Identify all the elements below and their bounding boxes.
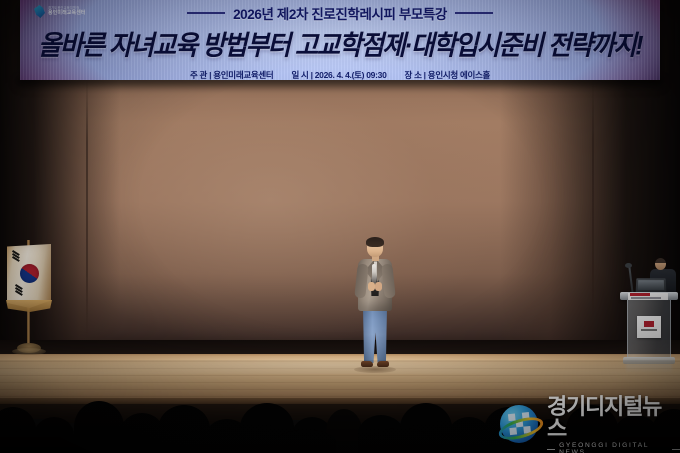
flag-fringe bbox=[6, 300, 52, 312]
banner-rule-right bbox=[455, 12, 493, 14]
lecture-hall-photo: 경기도용인교육지원청 용인미래교육센터 2026년 제2차 진로진학레시피 부모… bbox=[0, 0, 680, 453]
podium-laptop-icon bbox=[636, 278, 667, 293]
speaker-hair bbox=[366, 237, 384, 247]
watermark-english-name: GYEONGGI DIGITAL NEWS bbox=[559, 443, 668, 453]
banner-subtitle-row: 2026년 제2차 진로진학레시피 부모특강 bbox=[187, 3, 493, 23]
podium-sign-text-bar bbox=[631, 297, 661, 299]
speaker-jeans-shading bbox=[362, 308, 388, 363]
banner-title: 올바른 자녀교육 방법부터 고교학점제·대학입시준비 전략까지! bbox=[38, 24, 642, 63]
watermark-text: 경기디지털뉴스 GYEONGGI DIGITAL NEWS bbox=[547, 396, 680, 453]
banner-content: 2026년 제2차 진로진학레시피 부모특강 올바른 자녀교육 방법부터 고교학… bbox=[20, 0, 660, 80]
wall-seam-left bbox=[86, 78, 88, 340]
banner-rule-left bbox=[187, 12, 225, 14]
speaker-hand-right bbox=[375, 282, 382, 291]
speaker-figure bbox=[352, 238, 398, 378]
banner-meta-row: 주 관 | 용인미래교육센터 일 시 | 2026. 4. 4.(토) 09:3… bbox=[190, 69, 490, 80]
banner-host: 주 관 | 용인미래교육센터 bbox=[190, 69, 273, 80]
podium-operator-head bbox=[655, 258, 666, 270]
globe-icon bbox=[498, 403, 540, 449]
event-banner: 경기도용인교육지원청 용인미래교육센터 2026년 제2차 진로진학레시피 부모… bbox=[20, 0, 660, 80]
wall-seam-right bbox=[592, 78, 594, 340]
watermark-dash-left bbox=[547, 449, 555, 450]
watermark-korean-name: 경기디지털뉴스 bbox=[547, 396, 680, 440]
speaker-arm-right bbox=[381, 264, 395, 299]
podium-microphone-head-icon bbox=[625, 263, 632, 268]
banner-venue: 장 소 | 용인시청 에이스홀 bbox=[405, 69, 491, 80]
banner-drop-shadow bbox=[16, 78, 664, 92]
microphone-icon bbox=[372, 264, 376, 284]
speaker-hand-left bbox=[368, 282, 375, 291]
audience-head-front bbox=[372, 428, 430, 453]
news-watermark: 경기디지털뉴스 GYEONGGI DIGITAL NEWS bbox=[498, 396, 680, 453]
podium-microphone-stem-icon bbox=[628, 266, 633, 294]
podium-top-sign bbox=[628, 293, 668, 300]
audience-head-front bbox=[92, 429, 152, 453]
korean-flag bbox=[2, 240, 54, 380]
podium-plaque-emblem bbox=[644, 321, 654, 327]
audience-head-front bbox=[10, 427, 66, 453]
audience-head-front bbox=[186, 427, 244, 453]
podium-plaque-text-bar bbox=[641, 329, 657, 331]
watermark-english-row: GYEONGGI DIGITAL NEWS bbox=[547, 443, 680, 453]
watermark-dash-right bbox=[672, 449, 680, 450]
flag-stand-reflection bbox=[12, 348, 46, 355]
podium-front-plaque bbox=[637, 316, 661, 338]
banner-datetime: 일 시 | 2026. 4. 4.(토) 09:30 bbox=[291, 69, 386, 80]
banner-subtitle: 2026년 제2차 진로진학레시피 부모특강 bbox=[233, 3, 447, 23]
podium-laptop-screen bbox=[638, 280, 664, 290]
taeguk-circle-icon bbox=[20, 264, 39, 283]
audience-head-front bbox=[276, 430, 336, 453]
